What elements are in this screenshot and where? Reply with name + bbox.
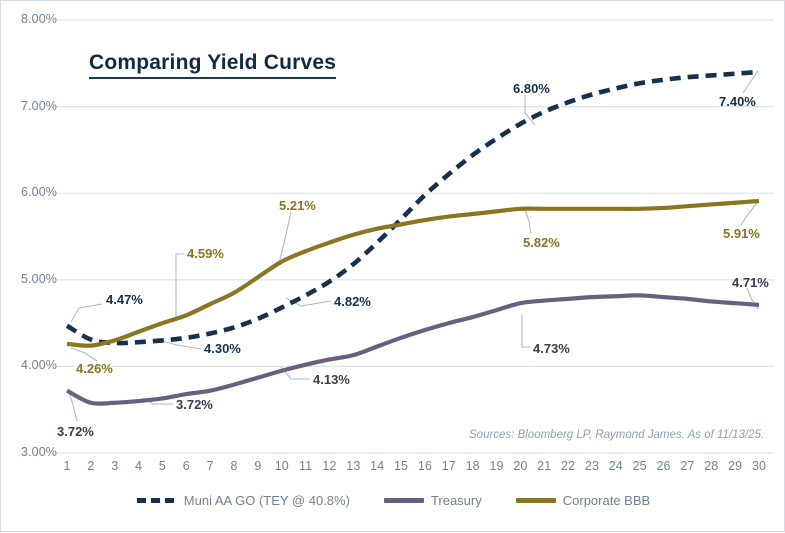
data-label: 3.72% [57, 424, 94, 439]
legend-swatch-icon [137, 498, 177, 503]
x-axis-tick: 5 [150, 459, 174, 473]
leader-line [176, 254, 184, 321]
leader-line [279, 212, 291, 263]
x-axis-tick: 15 [389, 459, 413, 473]
data-label: 3.72% [176, 397, 213, 412]
x-axis-tick: 14 [365, 459, 389, 473]
data-label: 7.40% [719, 94, 756, 109]
leader-line [162, 341, 201, 349]
x-axis-tick: 4 [127, 459, 151, 473]
data-label: 4.13% [313, 372, 350, 387]
chart-title: Comparing Yield Curves [89, 51, 336, 79]
x-axis-tick: 29 [723, 459, 747, 473]
x-axis-tick: 7 [198, 459, 222, 473]
series-line [67, 295, 759, 403]
data-label: 4.26% [76, 361, 113, 376]
x-axis-tick: 9 [246, 459, 270, 473]
x-axis-tick: 10 [270, 459, 294, 473]
leader-line [522, 315, 530, 347]
data-label: 6.80% [513, 81, 550, 96]
x-axis-tick: 3 [103, 459, 127, 473]
data-label: 5.91% [723, 226, 760, 241]
leader-line [525, 95, 535, 125]
leader-line [741, 203, 757, 225]
leader-line [71, 348, 97, 361]
x-axis-tick: 20 [508, 459, 532, 473]
legend-swatch-icon [516, 498, 556, 503]
legend-item[interactable]: Muni AA GO (TEY @ 40.8%) [137, 493, 350, 508]
x-axis-tick: 25 [628, 459, 652, 473]
source-note: Sources: Bloomberg LP, Raymond James. As… [469, 429, 764, 441]
data-label: 4.71% [732, 275, 769, 290]
annotation-leader-lines [69, 71, 758, 421]
data-label: 4.59% [187, 246, 224, 261]
x-axis-tick: 8 [222, 459, 246, 473]
x-axis-tick: 1 [55, 459, 79, 473]
data-label: 4.30% [204, 341, 241, 356]
y-axis-tick: 7.00% [1, 99, 57, 113]
x-axis-tick: 27 [675, 459, 699, 473]
x-axis-tick: 22 [556, 459, 580, 473]
leader-line [71, 304, 102, 322]
chart-legend: Muni AA GO (TEY @ 40.8%)TreasuryCorporat… [1, 493, 785, 508]
x-axis-tick: 17 [437, 459, 461, 473]
chart-container: Comparing Yield Curves 3.00%4.00%5.00%6.… [0, 0, 785, 532]
x-axis-tick: 21 [532, 459, 556, 473]
y-axis-tick: 8.00% [1, 12, 57, 26]
series-lines [67, 72, 759, 404]
y-axis-tick: 3.00% [1, 445, 57, 459]
x-axis-tick: 28 [699, 459, 723, 473]
x-axis-tick: 6 [174, 459, 198, 473]
leader-line [525, 210, 531, 233]
legend-label: Treasury [431, 493, 482, 508]
x-axis-tick: 19 [485, 459, 509, 473]
x-axis-tick: 26 [652, 459, 676, 473]
chart-plot-area [1, 1, 785, 533]
legend-label: Corporate BBB [563, 493, 650, 508]
data-label: 5.21% [279, 198, 316, 213]
x-axis-tick: 12 [317, 459, 341, 473]
y-axis-tick: 4.00% [1, 358, 57, 372]
legend-item[interactable]: Treasury [384, 493, 482, 508]
x-axis-tick: 2 [79, 459, 103, 473]
legend-item[interactable]: Corporate BBB [516, 493, 650, 508]
x-axis-tick: 16 [413, 459, 437, 473]
x-axis-tick: 13 [341, 459, 365, 473]
series-line [67, 201, 759, 346]
x-axis-tick: 30 [747, 459, 771, 473]
x-axis-tick: 23 [580, 459, 604, 473]
x-axis-tick: 18 [461, 459, 485, 473]
data-label: 4.47% [106, 292, 143, 307]
gridlines [55, 20, 774, 453]
data-label: 4.82% [334, 294, 371, 309]
x-axis-tick: 11 [294, 459, 318, 473]
x-axis-tick: 24 [604, 459, 628, 473]
data-label: 5.82% [523, 235, 560, 250]
data-label: 4.73% [533, 341, 570, 356]
legend-label: Muni AA GO (TEY @ 40.8%) [184, 493, 350, 508]
legend-swatch-icon [384, 498, 424, 503]
y-axis-tick: 6.00% [1, 185, 57, 199]
y-axis-tick: 5.00% [1, 272, 57, 286]
